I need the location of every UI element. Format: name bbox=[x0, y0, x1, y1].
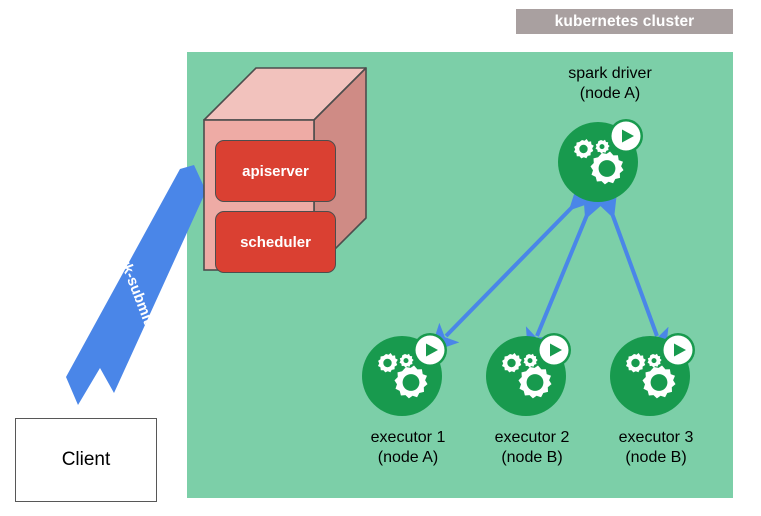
kubernetes-cluster-badge: kubernetes cluster bbox=[516, 9, 733, 34]
gears-play-icon bbox=[484, 332, 580, 418]
scheduler-box[interactable]: scheduler bbox=[215, 211, 336, 273]
client-box[interactable]: Client bbox=[15, 418, 157, 502]
control-plane-components: apiserver scheduler bbox=[215, 140, 336, 273]
executor-2-node[interactable] bbox=[484, 332, 580, 423]
kubernetes-cluster-label: kubernetes cluster bbox=[555, 14, 695, 30]
executor-3-caption: executor 3 (node B) bbox=[580, 428, 732, 467]
spark-submit-arrow-shape bbox=[58, 163, 208, 408]
spark-driver-node[interactable] bbox=[556, 118, 652, 209]
spark-submit-arrow: spark-submit bbox=[58, 163, 208, 408]
executor-1-node[interactable] bbox=[360, 332, 456, 423]
apiserver-label: apiserver bbox=[242, 163, 309, 180]
spark-driver-caption: spark driver (node A) bbox=[528, 64, 692, 103]
gears-play-icon bbox=[608, 332, 704, 418]
scheduler-label: scheduler bbox=[240, 234, 311, 251]
gears-play-icon bbox=[556, 118, 652, 204]
spark-driver-subtitle: (node A) bbox=[528, 84, 692, 104]
spark-driver-title: spark driver bbox=[528, 64, 692, 84]
gears-play-icon bbox=[360, 332, 456, 418]
control-plane-cube: apiserver scheduler bbox=[200, 62, 390, 282]
apiserver-box[interactable]: apiserver bbox=[215, 140, 336, 202]
executor-3-subtitle: (node B) bbox=[580, 448, 732, 468]
executor-3-title: executor 3 bbox=[580, 428, 732, 448]
executor-3-node[interactable] bbox=[608, 332, 704, 423]
diagram-canvas: kubernetes cluster spark-submit apiserve… bbox=[0, 0, 761, 516]
client-label: Client bbox=[62, 449, 111, 471]
